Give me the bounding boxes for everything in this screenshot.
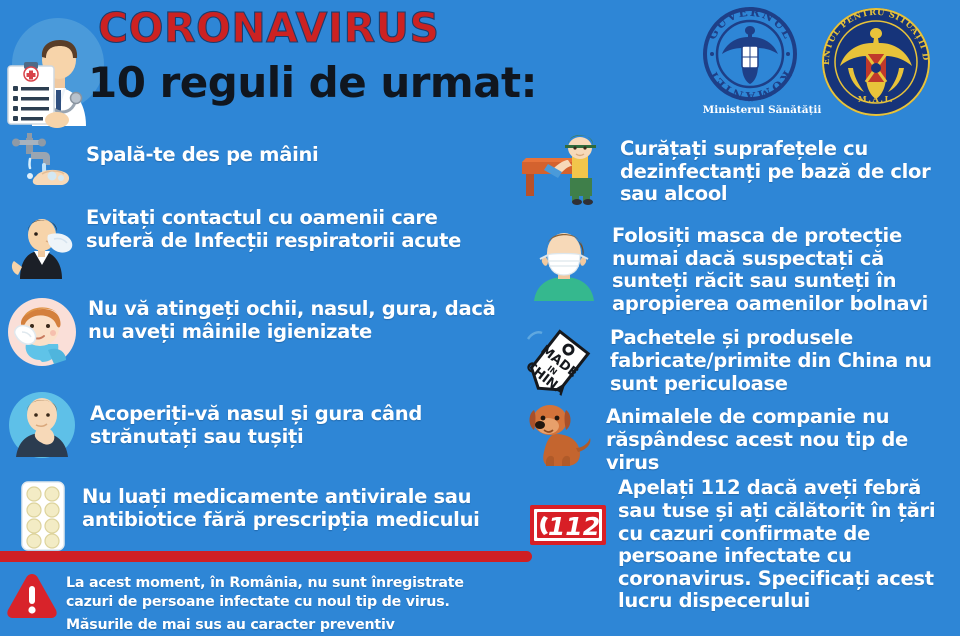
list-item: Nu luați medicamente antivirale sau anti…: [18, 480, 510, 557]
seal-caption-health-ministry: Ministerul Sănătății: [702, 104, 822, 116]
footer-line-3: Măsurile de mai sus au caracter preventi…: [66, 616, 516, 635]
list-item: Nu vă atingeți ochii, nasul, gura, dacă …: [4, 294, 510, 375]
faucet-handwashing-icon: [6, 132, 76, 195]
list-item: Acoperiți-vă nasul și gura când strănuta…: [6, 391, 510, 464]
guvernul-romaniei-seal: GUVERNUL ROMÂNIEI Ministerul Sănătă: [702, 6, 798, 107]
list-item: MADE IN CHINA Pachetele și produsele fab…: [518, 321, 960, 404]
page-title: CORONAVIRUS: [98, 4, 440, 52]
rule-text: Pachetele și produsele fabricate/primite…: [610, 327, 960, 395]
man-coughing-icon: [4, 205, 78, 286]
person-covering-mouth-icon: [6, 391, 78, 464]
footer-disclaimer: La acest moment, în România, nu sunt înr…: [66, 574, 516, 636]
rule-text: Nu vă atingeți ochii, nasul, gura, dacă …: [88, 298, 510, 344]
child-cleaning-surface-icon: [520, 134, 612, 211]
list-item: Evitați contactul cu oamenii care suferă…: [4, 205, 510, 286]
rules-column-right: Curățați suprafețele cu dezinfectanți pe…: [512, 128, 960, 613]
section-divider: [0, 551, 532, 562]
list-item: Folosiți masca de protecție numai dacă s…: [526, 223, 960, 315]
warning-triangle-icon: [6, 572, 58, 620]
puppy-dog-icon: [526, 400, 596, 475]
rule-text: Animalele de companie nu răspândesc aces…: [606, 406, 960, 474]
emergency-112-icon[interactable]: 112: [530, 505, 606, 550]
rule-text: Curățați suprafețele cu dezinfectanți pe…: [620, 138, 960, 206]
rules-column-left: Spală-te des pe mâini Evitați contac: [0, 128, 510, 557]
list-item: Curățați suprafețele cu dezinfectanți pe…: [520, 134, 960, 211]
svg-text:M.A.I.: M.A.I.: [858, 94, 894, 104]
poster-header: CORONAVIRUS 10 reguli de urmat: GUVERNUL: [0, 0, 960, 125]
child-sneezing-icon: [4, 294, 80, 375]
list-item: Animalele de companie nu răspândesc aces…: [526, 400, 960, 475]
official-seals: GUVERNUL ROMÂNIEI Ministerul Sănătă: [692, 4, 952, 124]
rule-text: Apelați 112 dacă aveți febră sau tuse și…: [618, 477, 960, 613]
rule-text: Evitați contactul cu oamenii care suferă…: [86, 207, 510, 253]
footer-line-1: La acest moment, în România, nu sunt înr…: [66, 574, 516, 593]
departamentul-situatii-urgenta-seal: DEPARTAMENTUL PENTRU SITUAȚII DE URGENȚĂ…: [820, 6, 932, 123]
rule-text: Nu luați medicamente antivirale sau anti…: [82, 486, 510, 532]
rule-text: Folosiți masca de protecție numai dacă s…: [612, 225, 960, 315]
coronavirus-infographic-poster: CORONAVIRUS 10 reguli de urmat: GUVERNUL: [0, 0, 960, 635]
made-in-china-tag-icon: MADE IN CHINA: [518, 321, 602, 404]
person-wearing-mask-icon: [526, 223, 602, 306]
rule-text: Acoperiți-vă nasul și gura când strănuta…: [90, 403, 510, 449]
page-subtitle: 10 reguli de urmat:: [88, 58, 537, 107]
list-item: 112 Apelați 112 dacă aveți febră sau tus…: [530, 477, 960, 613]
pill-blister-pack-icon: [18, 480, 68, 557]
list-item: Spală-te des pe mâini: [6, 132, 510, 195]
svg-text:112: 112: [548, 512, 600, 541]
rule-text: Spală-te des pe mâini: [86, 144, 318, 167]
footer-line-2: cazuri de persoane infectate cu noul tip…: [66, 593, 516, 612]
